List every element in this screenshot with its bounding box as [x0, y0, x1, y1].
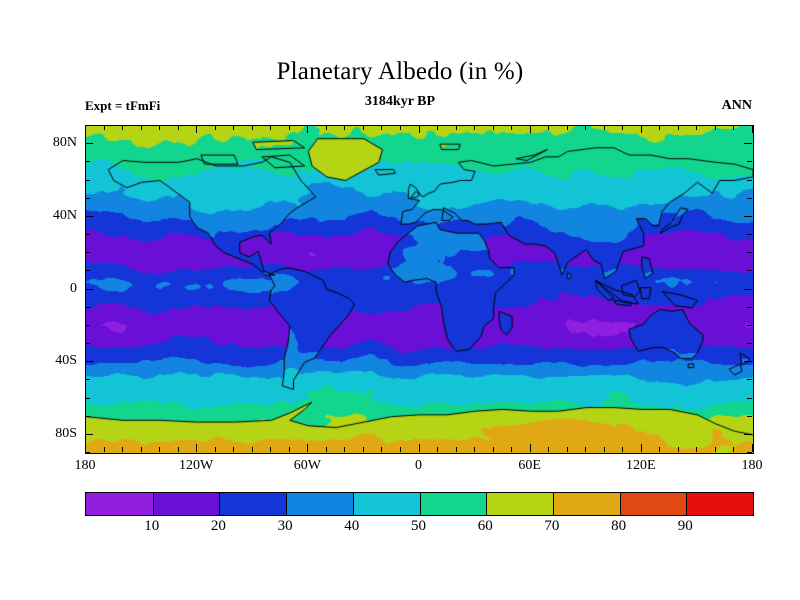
x-tick-top: [122, 125, 123, 130]
x-tick-top: [85, 125, 86, 133]
x-tick-top: [289, 125, 290, 130]
colorbar-band[interactable]: [686, 493, 753, 515]
colorbar-separator: [353, 493, 354, 515]
y-tick-right: [747, 452, 752, 453]
x-tick-bottom: [641, 444, 642, 452]
x-tick-bottom: [493, 447, 494, 452]
x-tick-top: [733, 125, 734, 130]
x-tick-bottom: [622, 447, 623, 452]
x-tick-bottom: [252, 447, 253, 452]
x-tick-top: [548, 125, 549, 130]
x-tick-bottom: [344, 447, 345, 452]
season-label: ANN: [722, 98, 752, 114]
colorbar-band[interactable]: [486, 493, 553, 515]
x-tick-bottom: [307, 444, 308, 452]
y-tick-right: [747, 398, 752, 399]
x-tick-bottom: [696, 447, 697, 452]
x-tick-bottom: [604, 447, 605, 452]
y-tick-right: [744, 143, 752, 144]
y-tick-right: [747, 234, 752, 235]
y-tick-left: [85, 434, 93, 435]
colorbar-tick-label: 30: [278, 518, 293, 535]
x-tick-bottom: [141, 447, 142, 452]
colorbar-band[interactable]: [420, 493, 487, 515]
colorbar-tick-label: 60: [478, 518, 493, 535]
colorbar-tick-label: 10: [144, 518, 159, 535]
experiment-label: Expt = tFmFi: [85, 98, 160, 114]
x-tick-bottom: [178, 447, 179, 452]
colorbar-separator: [286, 493, 287, 515]
y-tick-right: [747, 180, 752, 181]
y-tick-left: [85, 198, 90, 199]
x-tick-top: [567, 125, 568, 130]
y-axis-tick-label: 40S: [55, 353, 77, 369]
map-plot-frame: [85, 125, 754, 454]
y-tick-right: [747, 252, 752, 253]
x-tick-bottom: [381, 447, 382, 452]
x-tick-bottom: [400, 447, 401, 452]
colorbar-separator: [620, 493, 621, 515]
y-tick-left: [85, 307, 90, 308]
y-tick-right: [747, 379, 752, 380]
x-tick-bottom: [530, 444, 531, 452]
x-tick-bottom: [437, 447, 438, 452]
x-axis-tick-label: 180: [75, 458, 96, 474]
x-tick-top: [400, 125, 401, 130]
x-tick-top: [659, 125, 660, 130]
y-tick-right: [747, 307, 752, 308]
x-tick-top: [381, 125, 382, 130]
y-tick-left: [85, 289, 93, 290]
x-axis-tick-label: 120E: [626, 458, 656, 474]
page-title: Planetary Albedo (in %): [0, 58, 800, 86]
x-tick-bottom: [122, 447, 123, 452]
y-axis-tick-label: 80N: [53, 135, 77, 151]
albedo-colorbar[interactable]: [85, 492, 754, 516]
colorbar-separator: [686, 493, 687, 515]
x-tick-top: [696, 125, 697, 130]
x-tick-top: [419, 125, 420, 133]
y-tick-left: [85, 143, 93, 144]
x-tick-bottom: [548, 447, 549, 452]
x-tick-top: [252, 125, 253, 130]
x-tick-bottom: [715, 447, 716, 452]
colorbar-tick-label: 90: [678, 518, 693, 535]
y-tick-left: [85, 379, 90, 380]
y-tick-left: [85, 161, 90, 162]
colorbar-band[interactable]: [353, 493, 420, 515]
x-tick-top: [530, 125, 531, 133]
x-tick-bottom: [289, 447, 290, 452]
x-tick-bottom: [326, 447, 327, 452]
x-tick-top: [511, 125, 512, 130]
colorbar-band[interactable]: [286, 493, 353, 515]
x-tick-top: [215, 125, 216, 130]
y-tick-left: [85, 252, 90, 253]
x-tick-top: [715, 125, 716, 130]
x-tick-top: [752, 125, 753, 133]
colorbar-tick-label: 20: [211, 518, 226, 535]
x-tick-top: [678, 125, 679, 130]
colorbar-separator: [219, 493, 220, 515]
y-tick-left: [85, 325, 90, 326]
y-tick-right: [747, 125, 752, 126]
x-tick-bottom: [474, 447, 475, 452]
y-tick-right: [747, 270, 752, 271]
x-tick-bottom: [678, 447, 679, 452]
colorbar-tick-label: 50: [411, 518, 426, 535]
x-tick-bottom: [567, 447, 568, 452]
y-tick-left: [85, 234, 90, 235]
x-tick-top: [104, 125, 105, 130]
y-tick-left: [85, 180, 90, 181]
colorbar-tick-label: 70: [544, 518, 559, 535]
x-axis-tick-label: 60E: [518, 458, 541, 474]
albedo-map-canvas: [86, 126, 753, 453]
x-tick-bottom: [456, 447, 457, 452]
y-tick-right: [744, 434, 752, 435]
y-tick-left: [85, 416, 90, 417]
x-tick-bottom: [85, 444, 86, 452]
y-tick-right: [747, 161, 752, 162]
y-tick-right: [744, 289, 752, 290]
colorbar-separator: [553, 493, 554, 515]
x-tick-bottom: [196, 444, 197, 452]
y-axis-tick-label: 80S: [55, 426, 77, 442]
x-tick-bottom: [585, 447, 586, 452]
x-axis-tick-label: 180: [742, 458, 763, 474]
x-tick-top: [363, 125, 364, 130]
y-tick-left: [85, 398, 90, 399]
x-tick-top: [622, 125, 623, 130]
x-tick-bottom: [752, 444, 753, 452]
y-tick-right: [747, 325, 752, 326]
colorbar-separator: [153, 493, 154, 515]
y-tick-right: [747, 343, 752, 344]
x-tick-bottom: [270, 447, 271, 452]
y-tick-left: [85, 125, 90, 126]
x-axis-tick-label: 0: [415, 458, 422, 474]
y-tick-right: [744, 216, 752, 217]
colorbar-band[interactable]: [153, 493, 220, 515]
colorbar-separator: [486, 493, 487, 515]
x-tick-top: [326, 125, 327, 130]
y-axis-tick-label: 0: [70, 281, 77, 297]
x-tick-top: [196, 125, 197, 133]
y-tick-left: [85, 452, 90, 453]
x-tick-bottom: [511, 447, 512, 452]
x-tick-top: [604, 125, 605, 130]
x-tick-top: [178, 125, 179, 130]
y-tick-left: [85, 343, 90, 344]
colorbar-band[interactable]: [219, 493, 286, 515]
x-tick-top: [233, 125, 234, 130]
x-tick-bottom: [733, 447, 734, 452]
x-tick-bottom: [233, 447, 234, 452]
x-tick-bottom: [159, 447, 160, 452]
x-tick-bottom: [363, 447, 364, 452]
colorbar-separator: [420, 493, 421, 515]
x-tick-top: [437, 125, 438, 130]
x-tick-bottom: [215, 447, 216, 452]
x-tick-top: [456, 125, 457, 130]
colorbar-band[interactable]: [620, 493, 687, 515]
y-tick-right: [744, 361, 752, 362]
x-tick-top: [493, 125, 494, 130]
y-tick-left: [85, 270, 90, 271]
colorbar-band[interactable]: [553, 493, 620, 515]
x-tick-bottom: [104, 447, 105, 452]
y-tick-left: [85, 216, 93, 217]
x-tick-top: [474, 125, 475, 130]
x-tick-top: [641, 125, 642, 133]
x-axis-tick-label: 120W: [179, 458, 213, 474]
y-tick-right: [747, 416, 752, 417]
x-tick-top: [585, 125, 586, 130]
x-tick-bottom: [419, 444, 420, 452]
colorbar-band[interactable]: [86, 493, 153, 515]
x-tick-top: [307, 125, 308, 133]
x-tick-top: [159, 125, 160, 130]
x-tick-bottom: [659, 447, 660, 452]
y-tick-right: [747, 198, 752, 199]
x-tick-top: [344, 125, 345, 130]
colorbar-tick-label: 40: [344, 518, 359, 535]
x-tick-top: [141, 125, 142, 130]
colorbar-tick-label: 80: [611, 518, 626, 535]
x-tick-top: [270, 125, 271, 130]
y-tick-left: [85, 361, 93, 362]
y-axis-tick-label: 40N: [53, 208, 77, 224]
x-axis-tick-label: 60W: [294, 458, 321, 474]
